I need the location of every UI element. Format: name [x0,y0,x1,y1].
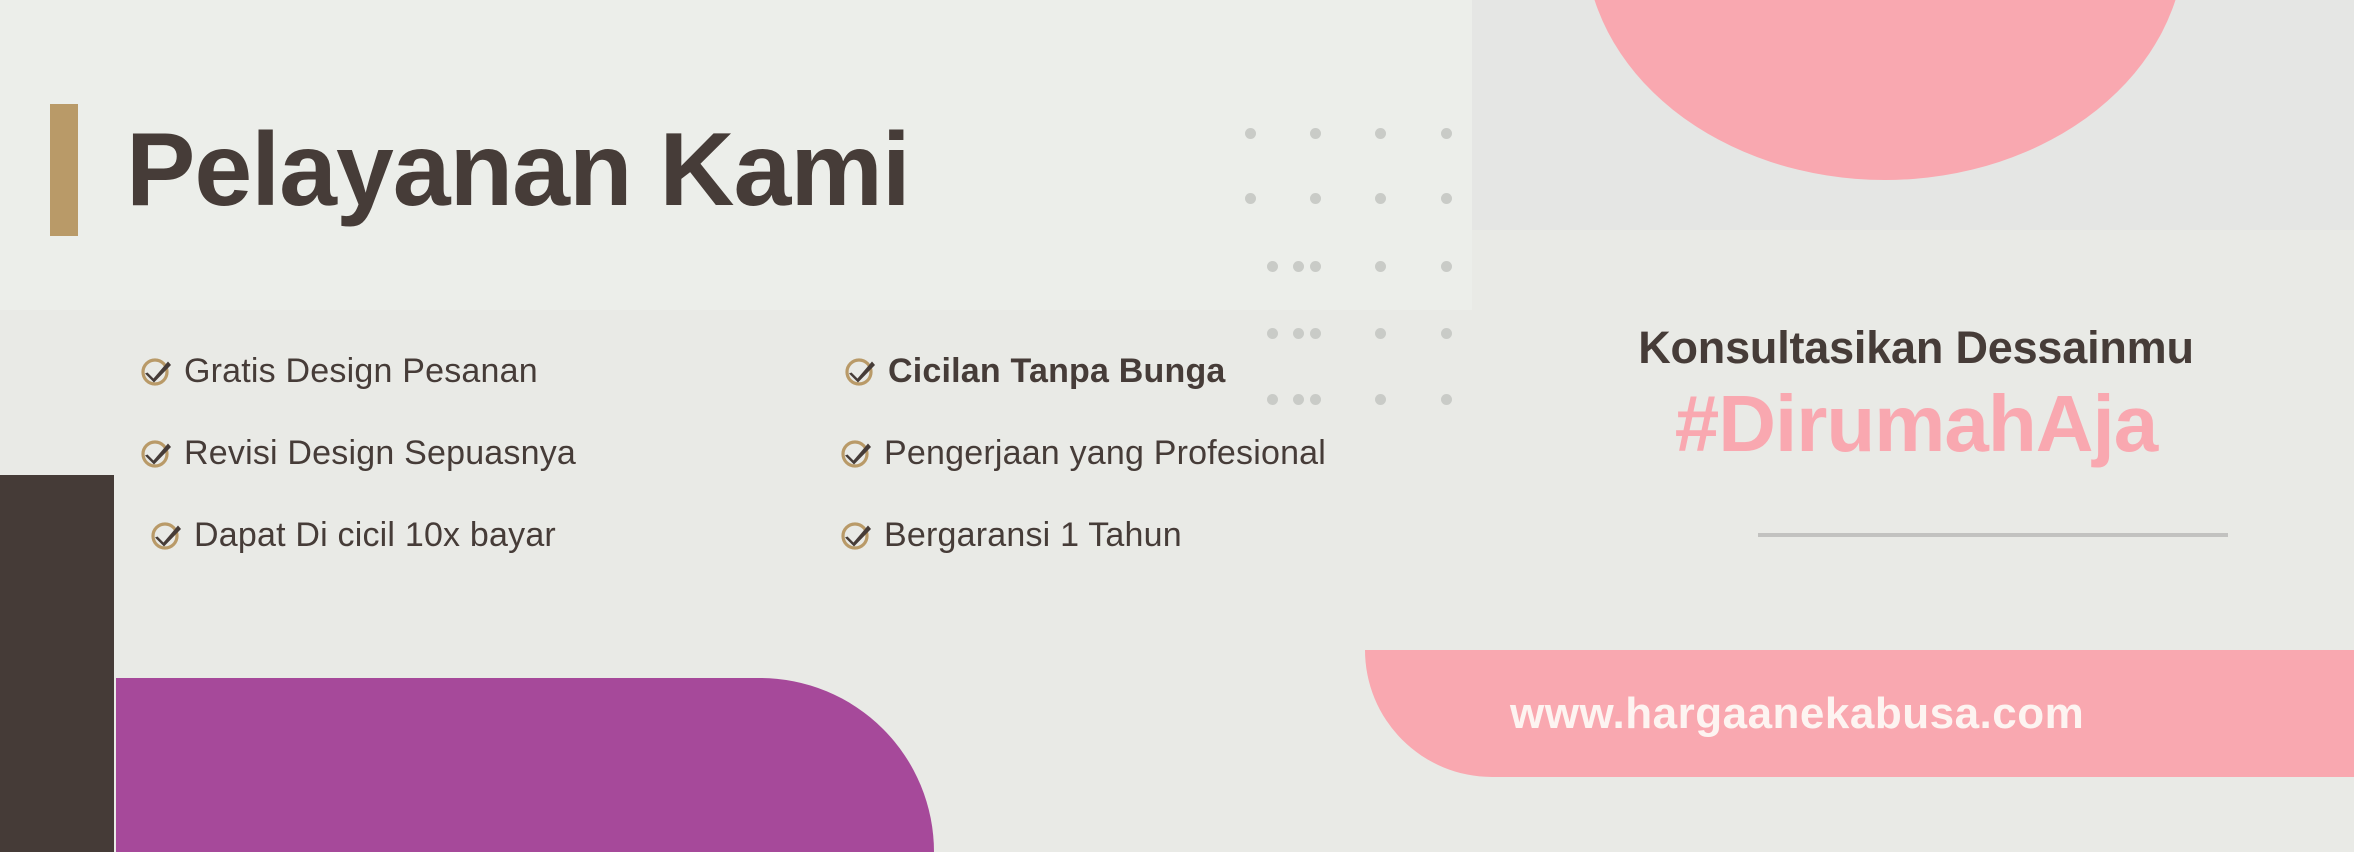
feature-item: Dapat Di cicil 10x bayar [150,494,840,576]
feature-item: Gratis Design Pesanan [140,330,840,412]
grid-dot [1310,261,1321,272]
grid-dot [1441,128,1452,139]
grid-dot [1267,261,1278,272]
grid-dot [1310,193,1321,204]
grid-dot [1375,128,1386,139]
feature-label: Revisi Design Sepuasnya [184,434,576,473]
check-circle-icon [140,354,174,388]
promo-headline: Konsultasikan Dessainmu [1486,322,2346,374]
grid-dot [1293,261,1304,272]
feature-list: Gratis Design Pesanan Revisi Design Sepu… [140,330,1450,576]
feature-label: Cicilan Tanpa Bunga [888,352,1226,391]
purple-block-decoration [116,678,934,852]
page-title: Pelayanan Kami [126,118,910,222]
service-banner: Pelayanan Kami Gratis Design Pesanan [0,0,2354,852]
promo-block: Konsultasikan Dessainmu #DirumahAja [1486,322,2346,470]
grid-dot [1375,261,1386,272]
feature-item: Bergaransi 1 Tahun [840,494,1450,576]
feature-item: Pengerjaan yang Profesional [840,412,1450,494]
grid-dot [1441,261,1452,272]
promo-hashtag: #DirumahAja [1486,378,2346,470]
feature-column-right: Cicilan Tanpa Bunga Pengerjaan yang Prof… [840,330,1450,576]
page-title-row: Pelayanan Kami [50,104,910,236]
check-circle-icon [840,436,874,470]
feature-label: Gratis Design Pesanan [184,352,538,391]
website-banner: www.hargaanekabusa.com [1365,650,2354,777]
grid-dot [1441,193,1452,204]
check-circle-icon [140,436,174,470]
promo-underline [1758,533,2228,537]
grid-dot [1310,128,1321,139]
grid-dot [1375,193,1386,204]
check-circle-icon [150,518,184,552]
feature-item: Revisi Design Sepuasnya [140,412,840,494]
feature-label: Pengerjaan yang Profesional [884,434,1326,473]
check-circle-icon [840,518,874,552]
grid-dot [1245,128,1256,139]
check-circle-icon [844,354,878,388]
dark-block-decoration [0,475,114,852]
feature-label: Bergaransi 1 Tahun [884,516,1182,555]
grid-dot [1245,193,1256,204]
feature-column-left: Gratis Design Pesanan Revisi Design Sepu… [140,330,840,576]
feature-label: Dapat Di cicil 10x bayar [194,516,556,555]
title-accent-bar [50,104,78,236]
feature-item: Cicilan Tanpa Bunga [844,330,1450,412]
website-url[interactable]: www.hargaanekabusa.com [1510,689,2084,739]
